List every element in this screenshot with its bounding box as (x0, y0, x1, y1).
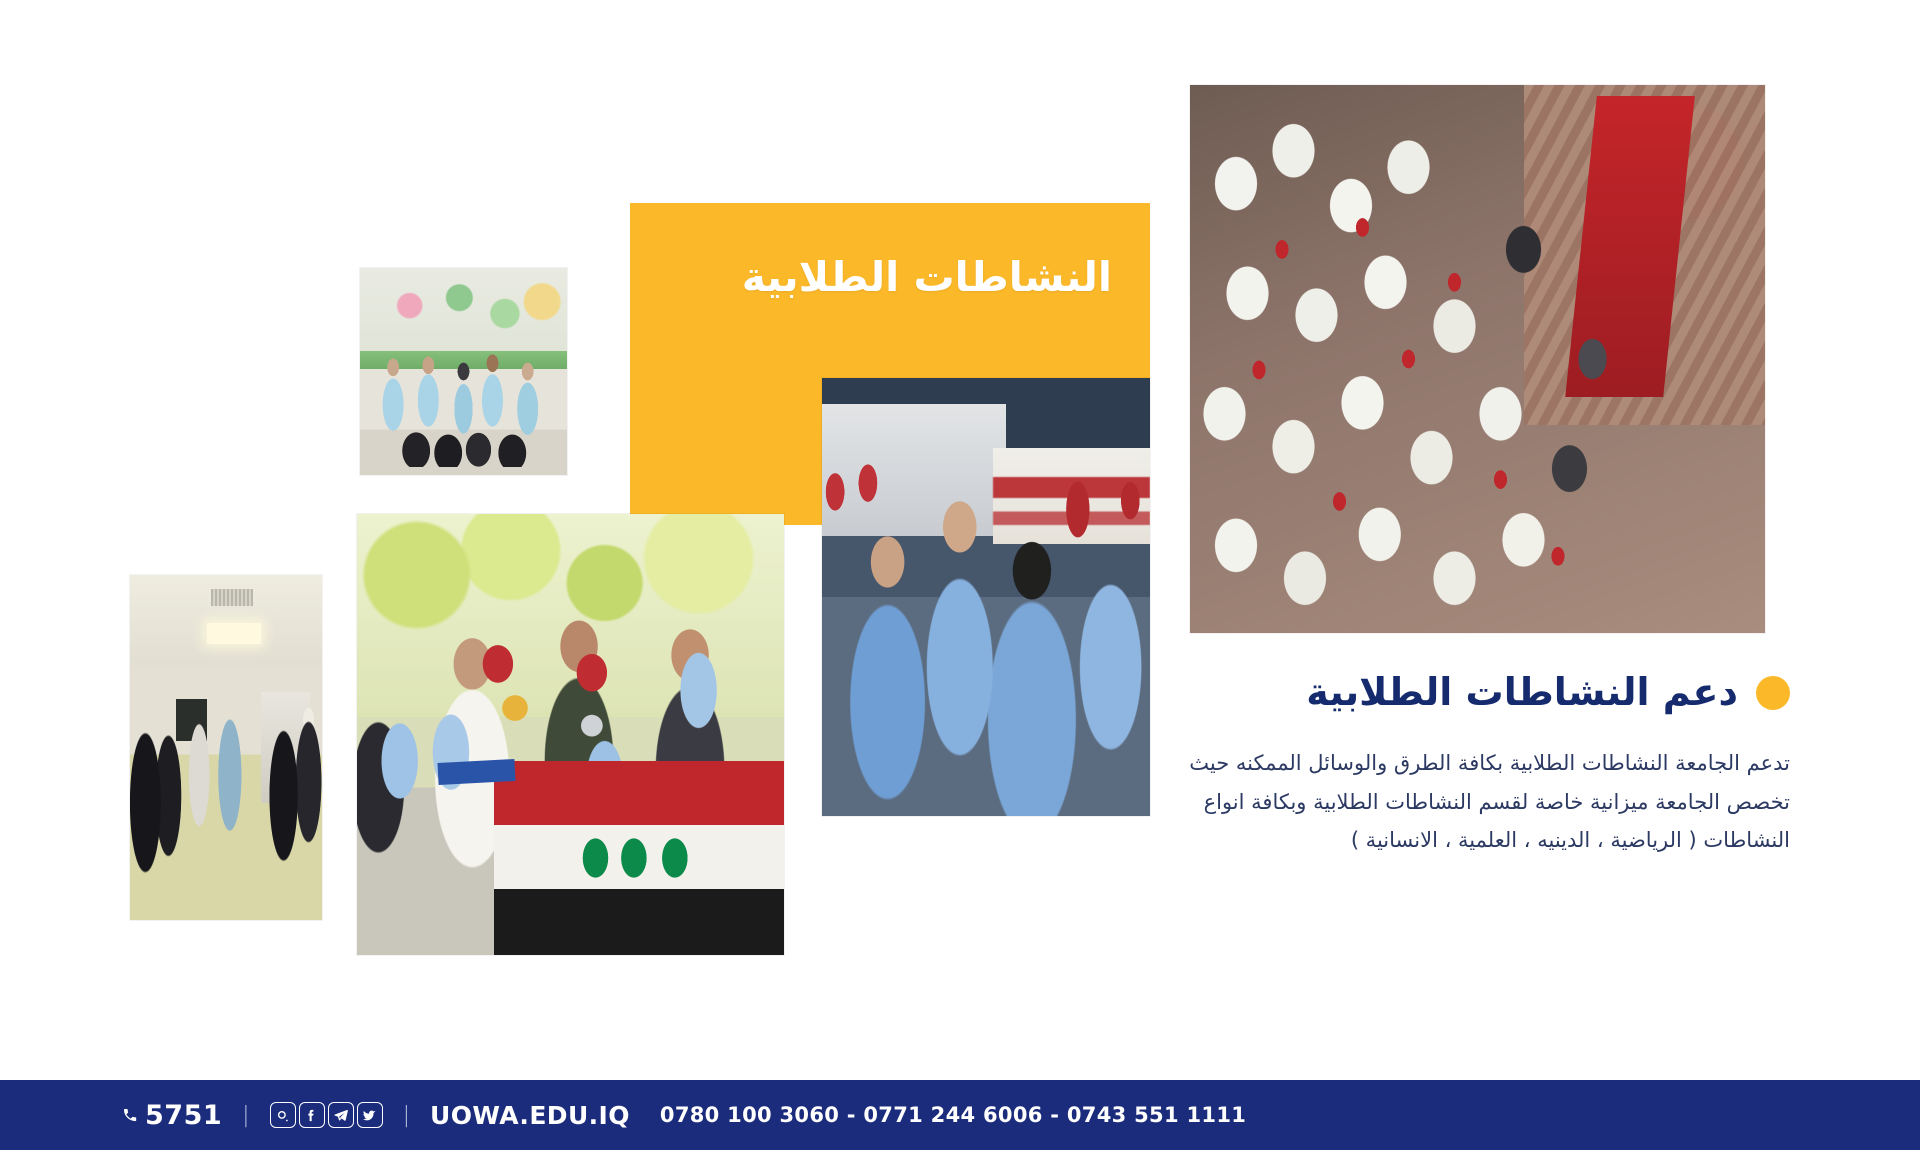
photo-health-campaign-image (822, 378, 1150, 816)
footer-short-phone: 5751 (145, 1100, 222, 1131)
section-heading: دعم النشاطات الطلابية (1306, 672, 1738, 714)
footer-website-link[interactable]: UOWA.EDU.IQ (430, 1101, 630, 1130)
footer-content: 5751 | (122, 1100, 1246, 1131)
observing-students (130, 575, 322, 920)
photo-karate-athletes-image (357, 514, 784, 955)
section-heading-row: دعم النشاطات الطلابية (1150, 672, 1790, 714)
footer-phone-group[interactable]: 5751 (122, 1100, 222, 1131)
telegram-icon[interactable] (328, 1102, 354, 1128)
photo-medical-training-room-image (130, 575, 322, 920)
footer-bar: 5751 | (0, 1080, 1920, 1150)
footer-separator-1: | (242, 1103, 249, 1128)
footer-social-links (270, 1102, 383, 1128)
section-body-text: تدعم الجامعة النشاطات الطلابية بكافة الط… (1150, 744, 1790, 861)
photo-student-ceremony-crowd (1190, 85, 1765, 633)
photo-hospital-volunteers (360, 268, 567, 475)
footer-phone-numbers: 0780 100 3060 - 0771 244 6006 - 0743 551… (660, 1103, 1246, 1127)
instagram-icon[interactable] (270, 1102, 296, 1128)
photo-hospital-volunteers-image (360, 268, 567, 475)
photo-student-ceremony-crowd-image (1190, 85, 1765, 633)
twitter-icon[interactable] (357, 1102, 383, 1128)
photo-health-campaign (822, 378, 1150, 816)
bullet-dot-icon (1756, 676, 1790, 710)
facebook-icon[interactable] (299, 1102, 325, 1128)
students-in-ppe (822, 378, 1150, 816)
handheld-iraqi-flags (1190, 85, 1765, 633)
page-title: النشاطات الطلابية (742, 253, 1112, 301)
photo-karate-athletes (357, 514, 784, 955)
photo-medical-training-room (130, 575, 322, 920)
medals (357, 514, 784, 955)
footer-separator-2: | (403, 1103, 410, 1128)
donation-bags (377, 413, 555, 467)
phone-handset-icon (122, 1107, 138, 1123)
section-text-column: دعم النشاطات الطلابية تدعم الجامعة النشا… (1150, 672, 1790, 860)
